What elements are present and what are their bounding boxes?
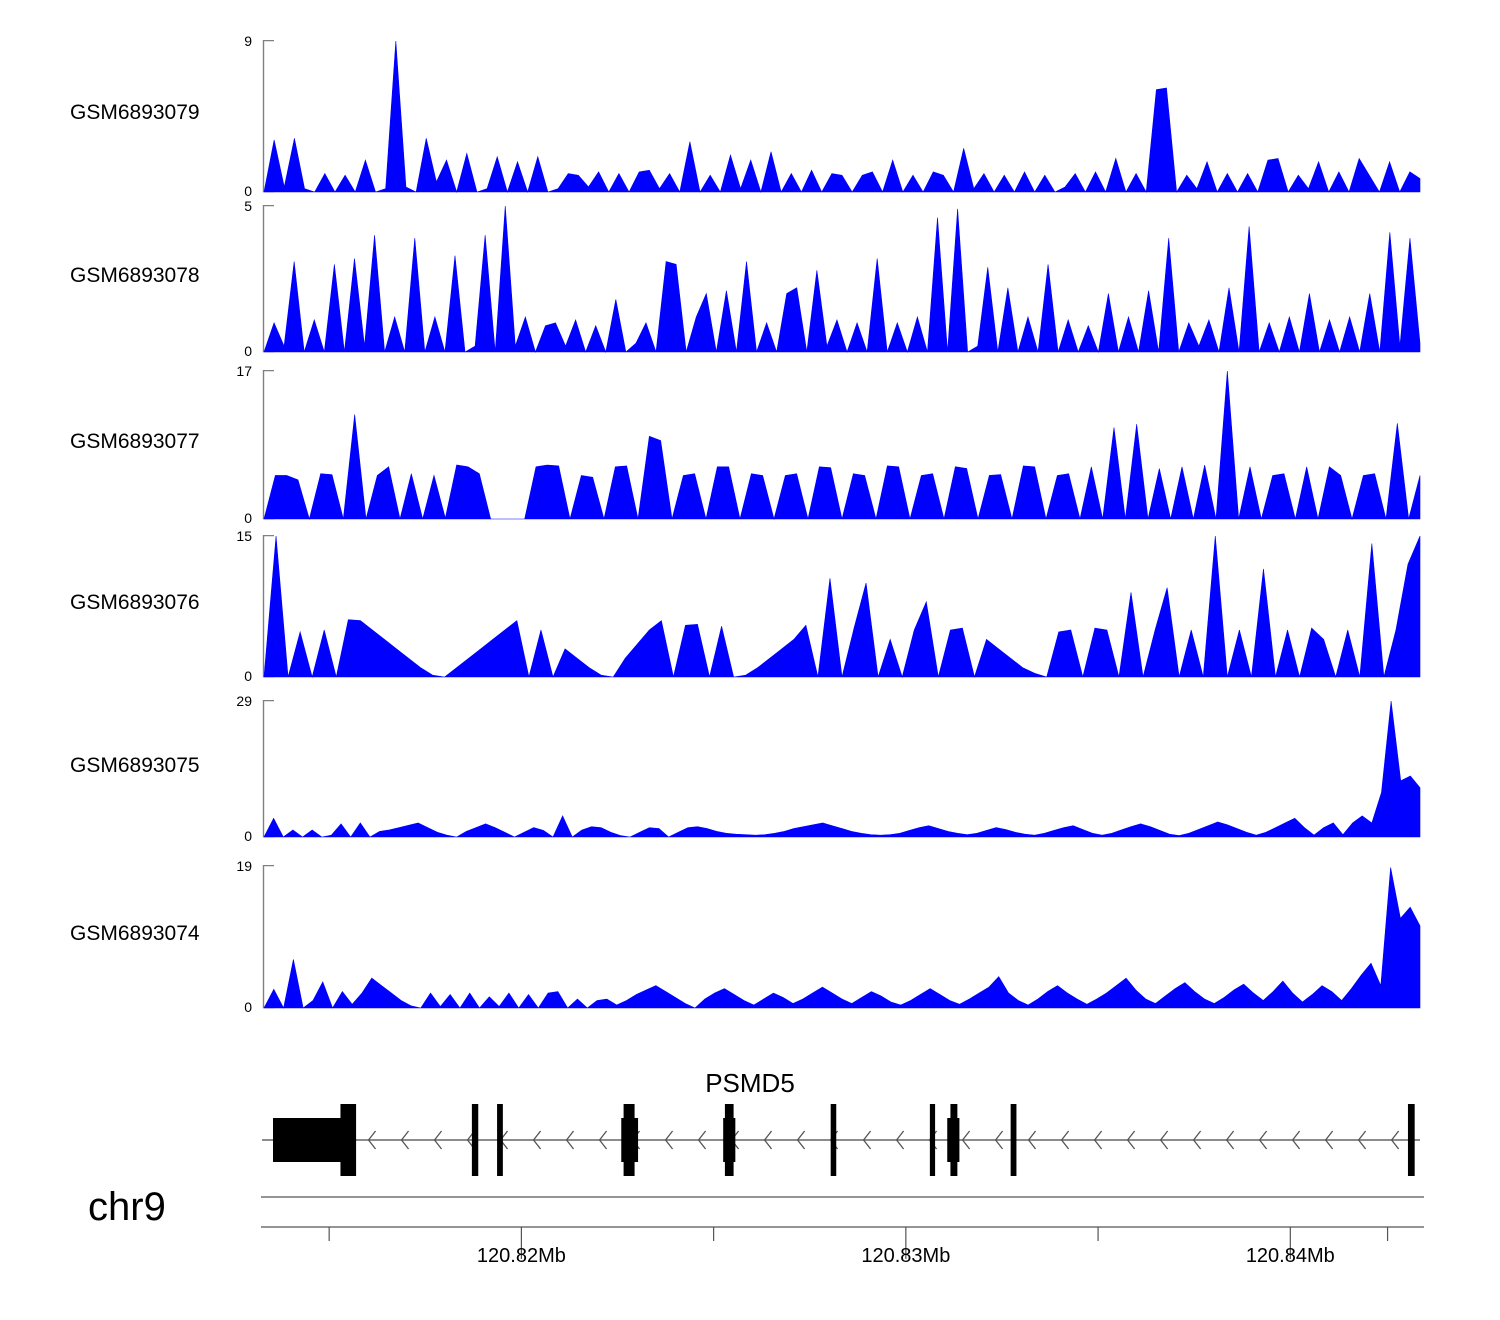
track-ymin-label: 0 xyxy=(244,829,252,843)
axis-tick-label: 120.83Mb xyxy=(861,1245,950,1268)
gene-model-svg xyxy=(0,1060,1500,1205)
track-label-gsm6893078: GSM6893078 xyxy=(70,265,240,286)
gene-exon-block xyxy=(723,1118,735,1162)
coverage-track: GSM6893076150 xyxy=(0,535,1500,687)
coverage-track: GSM6893077170 xyxy=(0,370,1500,529)
gene-exon-block xyxy=(1011,1104,1017,1176)
track-label-gsm6893079: GSM6893079 xyxy=(70,102,240,123)
axis-tick-label: 120.84Mb xyxy=(1246,1245,1335,1268)
track-label-gsm6893077: GSM6893077 xyxy=(70,431,240,452)
gene-exon-block xyxy=(340,1104,356,1176)
track-ymax-label: 19 xyxy=(236,859,252,873)
gene-exon-block xyxy=(930,1104,935,1176)
coverage-area xyxy=(264,536,1420,677)
coverage-plot xyxy=(262,205,1430,356)
track-ymin-label: 0 xyxy=(244,669,252,683)
coverage-track: GSM689307990 xyxy=(0,40,1500,202)
track-ymax-label: 5 xyxy=(244,199,252,213)
gene-exon-block xyxy=(621,1118,638,1162)
track-ymin-label: 0 xyxy=(244,511,252,525)
coverage-area xyxy=(264,701,1420,837)
coverage-track: GSM689307850 xyxy=(0,205,1500,362)
track-ymin-label: 0 xyxy=(244,344,252,358)
track-ymax-label: 17 xyxy=(236,364,252,378)
track-label-gsm6893076: GSM6893076 xyxy=(70,592,240,613)
gene-model-track xyxy=(0,1060,1500,1205)
gene-utr-block xyxy=(273,1118,342,1162)
y-axis-bracket xyxy=(264,866,275,1008)
genome-browser-figure: GSM689307990GSM689307850GSM6893077170GSM… xyxy=(0,0,1500,1320)
coverage-plot xyxy=(262,700,1430,841)
track-ymin-label: 0 xyxy=(244,1000,252,1014)
coverage-plot xyxy=(262,40,1430,196)
gene-exon-block xyxy=(497,1104,503,1176)
axis-tick-label: 120.82Mb xyxy=(477,1245,566,1268)
gene-exon-block xyxy=(831,1104,837,1176)
y-axis-bracket xyxy=(264,701,275,837)
gene-exon-block xyxy=(1408,1104,1415,1176)
coverage-plot xyxy=(262,865,1430,1012)
coverage-area xyxy=(264,41,1420,192)
coverage-track: GSM6893075290 xyxy=(0,700,1500,847)
coverage-plot xyxy=(262,535,1430,681)
gene-exon-block xyxy=(472,1104,478,1176)
coverage-plot xyxy=(262,370,1430,523)
track-ymax-label: 29 xyxy=(236,694,252,708)
track-ymin-label: 0 xyxy=(244,184,252,198)
coverage-track: GSM6893074190 xyxy=(0,865,1500,1018)
genome-axis: 120.82Mb120.83Mb120.84Mb xyxy=(0,1185,1500,1305)
coverage-area xyxy=(264,867,1420,1008)
coverage-area xyxy=(264,206,1420,352)
coverage-area xyxy=(264,371,1420,519)
track-ymax-label: 9 xyxy=(244,34,252,48)
track-label-gsm6893074: GSM6893074 xyxy=(70,923,240,944)
track-ymax-label: 15 xyxy=(236,529,252,543)
track-label-gsm6893075: GSM6893075 xyxy=(70,755,240,776)
gene-exon-block xyxy=(947,1118,959,1162)
